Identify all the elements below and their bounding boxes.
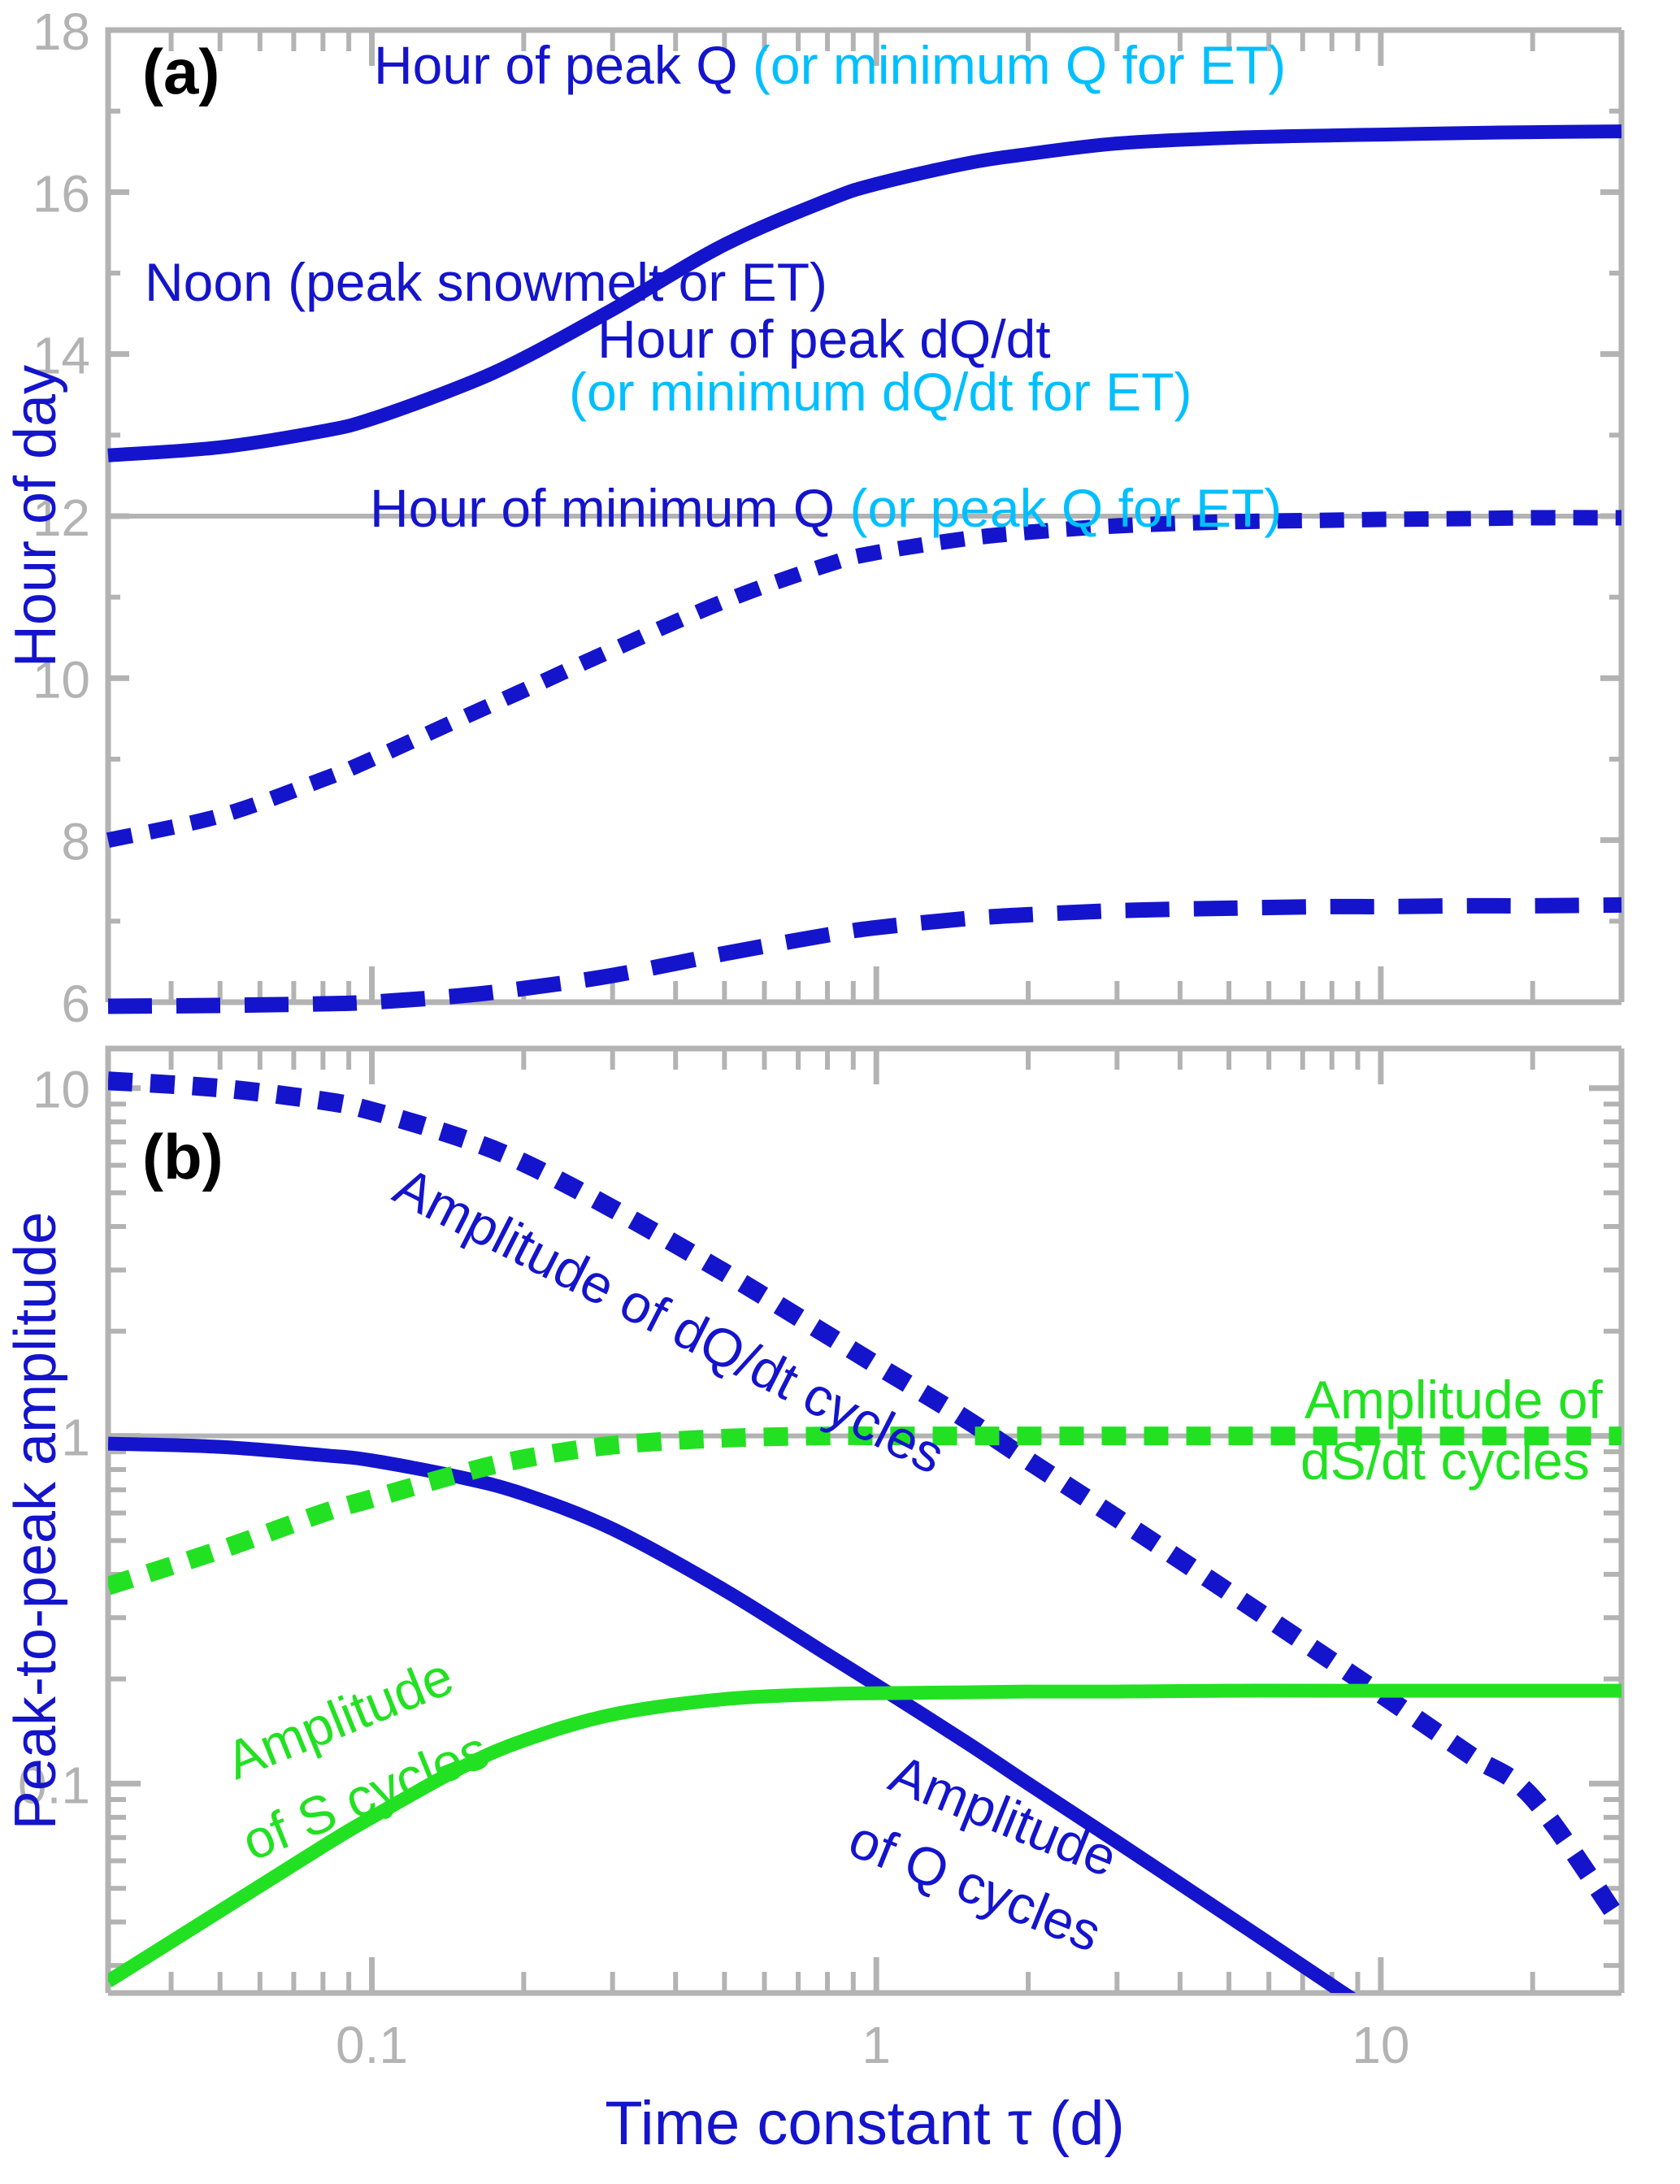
xtick-label: 10: [1352, 2016, 1409, 2074]
panel-a-ytick-label: 6: [61, 975, 90, 1033]
panel-a-label: (a): [142, 36, 219, 107]
panel-a-ytick-label: 16: [33, 164, 90, 223]
min-q-alt: (or peak Q for ET): [849, 478, 1282, 538]
amp-dsdt-annotation-l2: dS/dt cycles: [1300, 1431, 1590, 1491]
figure-svg: 1816141210861010.10.1110(a)(b)Hour of pe…: [0, 0, 1680, 2184]
panel-b-label: (b): [142, 1121, 224, 1192]
xtick-label: 0.1: [336, 2016, 408, 2074]
peak-dqdt-annotation-alt: (or minimum dQ/dt for ET): [569, 362, 1192, 422]
noon-annotation: Noon (peak snowmelt or ET): [145, 252, 827, 312]
peak-q-alt: (or minimum Q for ET): [753, 35, 1286, 95]
min-q-main: Hour of minimum Q: [370, 478, 849, 538]
peak-dqdt-annotation-main: Hour of peak dQ/dt: [597, 309, 1051, 369]
panel-a-ytick-label: 8: [61, 813, 90, 871]
panel-a-series-2: [108, 905, 1621, 1006]
xaxis-label: Time constant τ (d): [605, 2089, 1125, 2158]
figure-root: 1816141210861010.10.1110(a)(b)Hour of pe…: [0, 0, 1680, 2184]
peak-q-main: Hour of peak Q: [374, 35, 753, 95]
peak-q-annotation: Hour of peak Q (or minimum Q for ET): [374, 35, 1286, 95]
panel-a-ytick-label: 18: [33, 2, 90, 61]
min-q-annotation: Hour of minimum Q (or peak Q for ET): [370, 478, 1282, 538]
xtick-label: 1: [862, 2016, 891, 2074]
panel-a-series-1: [108, 518, 1621, 840]
panel-b-ylabel: Peak-to-peak amplitude: [3, 1212, 68, 1830]
amp-dsdt-annotation-l1: Amplitude of: [1304, 1370, 1604, 1430]
panel-a-ylabel: Hour of day: [3, 365, 68, 667]
panel-b-ytick-label: 10: [33, 1061, 90, 1119]
